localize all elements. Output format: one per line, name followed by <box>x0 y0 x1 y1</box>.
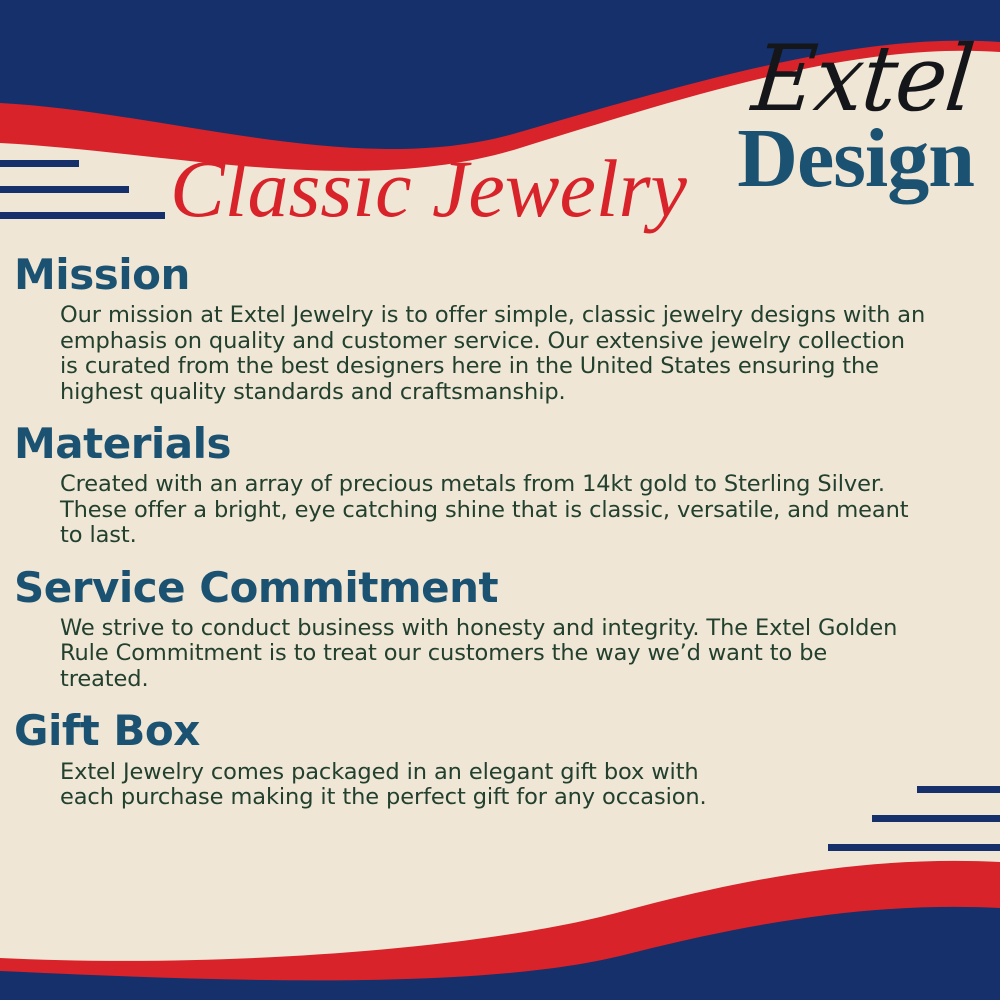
body-line: highest quality standards and craftsmans… <box>60 380 970 405</box>
section-body-gift-box: Extel Jewelry comes packaged in an elega… <box>0 760 1000 811</box>
body-line: We strive to conduct business with hones… <box>60 616 970 641</box>
section-heading-service-commitment: Service Commitment <box>0 565 1000 610</box>
section-body-service-commitment: We strive to conduct business with hones… <box>0 616 1000 692</box>
top-left-rule-group <box>0 160 165 219</box>
section-service-commitment: Service Commitment We strive to conduct … <box>0 565 1000 693</box>
section-gift-box: Gift Box Extel Jewelry comes packaged in… <box>0 708 1000 810</box>
page-title: Classic Jewelry <box>170 148 687 230</box>
content-sections: Mission Our mission at Extel Jewelry is … <box>0 252 1000 811</box>
section-heading-materials: Materials <box>0 421 1000 466</box>
section-body-materials: Created with an array of precious metals… <box>0 472 1000 548</box>
body-line: Created with an array of precious metals… <box>60 472 970 497</box>
rule-line <box>0 186 129 193</box>
body-line: treated. <box>60 667 970 692</box>
body-line: These offer a bright, eye catching shine… <box>60 498 970 523</box>
bottom-navy-wave-shape <box>0 907 1000 1000</box>
section-mission: Mission Our mission at Extel Jewelry is … <box>0 252 1000 405</box>
body-line: Our mission at Extel Jewelry is to offer… <box>60 303 970 328</box>
body-line: Rule Commitment is to treat our customer… <box>60 641 970 666</box>
bottom-red-wave-shape <box>0 861 1000 1000</box>
brand-script-name: Extel <box>554 37 977 124</box>
body-line: is curated from the best designers here … <box>60 354 970 379</box>
rule-line <box>0 160 79 167</box>
body-line: to last. <box>60 523 970 548</box>
section-body-mission: Our mission at Extel Jewelry is to offer… <box>0 303 1000 405</box>
section-heading-mission: Mission <box>0 252 1000 297</box>
rule-line <box>0 212 165 219</box>
body-line: each purchase making it the perfect gift… <box>60 785 970 810</box>
section-heading-gift-box: Gift Box <box>0 708 1000 753</box>
poster-canvas: Extel Design Classic Jewelry Mission Our… <box>0 0 1000 1000</box>
rule-line <box>828 844 1000 851</box>
rule-line <box>872 815 1000 822</box>
body-line: emphasis on quality and customer service… <box>60 329 970 354</box>
section-materials: Materials Created with an array of preci… <box>0 421 1000 549</box>
body-line: Extel Jewelry comes packaged in an elega… <box>60 760 970 785</box>
